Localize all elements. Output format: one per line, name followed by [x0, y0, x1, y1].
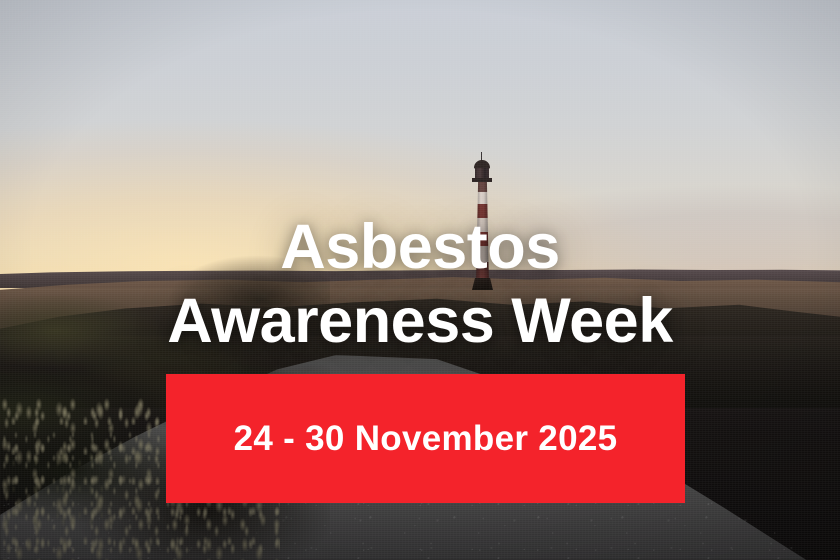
date-banner: 24 - 30 November 2025 [166, 374, 685, 503]
headline-line-1: Asbestos [0, 216, 840, 279]
poster-content: Asbestos Awareness Week 24 - 30 November… [0, 0, 840, 560]
asbestos-awareness-week-poster: Asbestos Awareness Week 24 - 30 November… [0, 0, 840, 560]
date-banner-text: 24 - 30 November 2025 [234, 419, 618, 459]
headline-line-2: Awareness Week [0, 290, 840, 353]
